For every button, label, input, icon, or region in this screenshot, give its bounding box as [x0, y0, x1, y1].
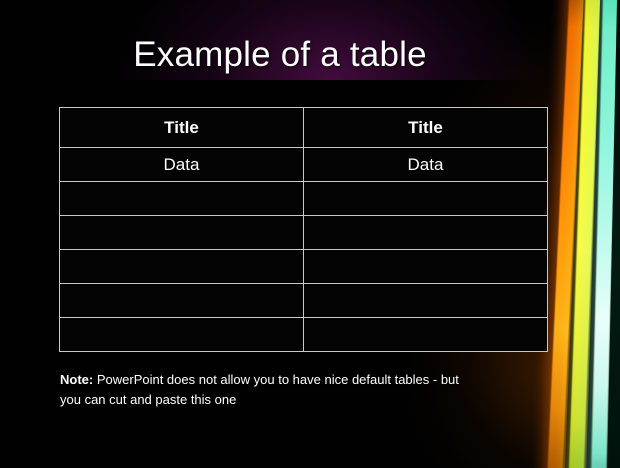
- table-header: Title Title: [60, 108, 548, 148]
- table-cell: [60, 284, 304, 318]
- table-cell: Data: [60, 148, 304, 182]
- table-cell: [60, 318, 304, 352]
- page-title: Example of a table: [0, 36, 560, 75]
- table-cell: [304, 284, 548, 318]
- table-cell: [60, 182, 304, 216]
- table-row: [60, 250, 548, 284]
- example-table-container: Title Title Data Data: [59, 107, 548, 352]
- table-cell: [60, 250, 304, 284]
- table-header-cell-2: Title: [304, 108, 548, 148]
- note-body: PowerPoint does not allow you to have ni…: [60, 372, 459, 407]
- note-text: Note: PowerPoint does not allow you to h…: [60, 370, 480, 410]
- table-header-row: Title Title: [60, 108, 548, 148]
- table-row: [60, 318, 548, 352]
- bar-separator-a: [563, 0, 589, 468]
- bar-separator-b: [585, 0, 606, 468]
- table-cell: [304, 250, 548, 284]
- table-row: [60, 182, 548, 216]
- table-cell: [304, 318, 548, 352]
- cyan-light-bar: [590, 0, 619, 468]
- table-cell: [60, 216, 304, 250]
- table-row: [60, 284, 548, 318]
- table-cell: [304, 182, 548, 216]
- yellow-light-bar: [567, 0, 602, 468]
- example-table: Title Title Data Data: [59, 107, 548, 352]
- slide-canvas: Example of a table Title Title Data Data: [0, 0, 620, 468]
- table-cell: Data: [304, 148, 548, 182]
- table-row: Data Data: [60, 148, 548, 182]
- table-body: Data Data: [60, 148, 548, 352]
- note-label: Note:: [60, 372, 93, 387]
- right-dark-edge: [606, 0, 620, 468]
- table-row: [60, 216, 548, 250]
- table-cell: [304, 216, 548, 250]
- table-header-cell-1: Title: [60, 108, 304, 148]
